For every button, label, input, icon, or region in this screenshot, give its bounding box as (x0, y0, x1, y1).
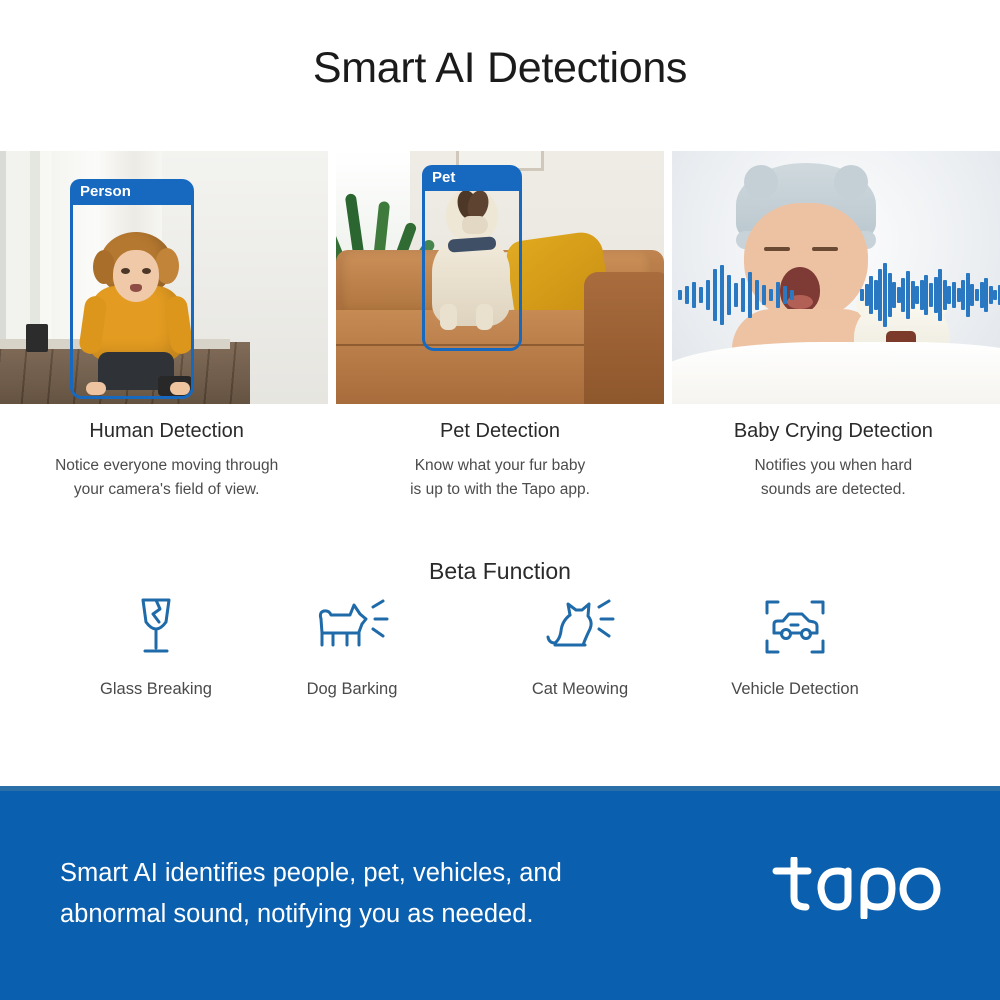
waveform-bar (734, 283, 738, 307)
waveform-bar (892, 282, 896, 308)
waveform-bar (897, 287, 901, 303)
waveform-bar (929, 283, 933, 307)
caption-title: Human Detection (0, 420, 333, 443)
waveform-bar (966, 273, 970, 317)
waveform-bar (748, 272, 752, 318)
waveform-bar (993, 290, 997, 300)
blanket (672, 342, 1000, 404)
waveform-bar (984, 278, 988, 312)
waveform-bar (720, 265, 724, 325)
hat-ear (834, 165, 868, 199)
waveform-bar (888, 273, 892, 317)
beta-item-dog-barking[interactable]: Dog Barking (252, 596, 452, 699)
detection-box-person: Person (70, 179, 194, 399)
hallway-object (26, 324, 48, 352)
footer-banner: Smart AI identifies people, pet, vehicle… (0, 786, 1000, 1000)
broken-glass-icon (56, 596, 256, 658)
beta-item-label: Glass Breaking (56, 680, 256, 699)
beta-function-heading: Beta Function (0, 558, 1000, 585)
waveform-bar (938, 269, 942, 321)
vehicle-detection-icon (695, 596, 895, 658)
caption-line-2: sounds are detected. (761, 481, 906, 498)
caption-title: Pet Detection (333, 420, 666, 443)
feature-image-pet-detection: Pet (336, 151, 664, 404)
beta-item-vehicle-detection[interactable]: Vehicle Detection (695, 596, 895, 699)
caption-description: Notifies you when hard sounds are detect… (667, 454, 1000, 501)
waveform-bar (769, 289, 773, 301)
couch-arm (584, 272, 664, 404)
tapo-logo (770, 857, 942, 919)
waveform-bar (961, 280, 965, 310)
caption-description: Know what your fur baby is up to with th… (333, 454, 666, 501)
caption-line-1: Notifies you when hard (754, 457, 912, 474)
waveform-bar (865, 284, 869, 306)
waveform-bar (989, 286, 993, 304)
banner-line-2: abnormal sound, notifying you as needed. (60, 900, 534, 928)
waveform-bar (906, 271, 910, 319)
waveform-bar (706, 280, 710, 310)
caption-human-detection: Human Detection Notice everyone moving t… (0, 420, 333, 501)
waveform-bar (957, 288, 961, 302)
feature-image-human-detection: Person (0, 151, 328, 404)
caption-description: Notice everyone moving through your came… (0, 454, 333, 501)
detection-box-pet: Pet (422, 165, 522, 351)
waveform-bar (727, 275, 731, 315)
detection-label-person: Person (70, 179, 194, 205)
waveform-bar (878, 269, 882, 321)
waveform-bar (947, 286, 951, 304)
waveform-bar (678, 290, 682, 300)
waveform-bar (924, 275, 928, 315)
marketing-page: Smart AI Detections (0, 0, 1000, 1000)
beta-item-cat-meowing[interactable]: Cat Meowing (480, 596, 680, 699)
waveform-bar (692, 282, 696, 308)
hat-ear (744, 165, 778, 199)
page-title: Smart AI Detections (0, 44, 1000, 93)
waveform-bar (934, 277, 938, 313)
waveform-bar (755, 280, 759, 310)
caption-line-2: your camera's field of view. (74, 481, 260, 498)
cat-meowing-icon (480, 596, 680, 658)
caption-line-2: is up to with the Tapo app. (410, 481, 590, 498)
feature-image-baby-crying-detection (672, 151, 1000, 404)
beta-item-label: Vehicle Detection (695, 680, 895, 699)
waveform-bar (874, 280, 878, 310)
waveform-bar (975, 289, 979, 301)
detection-label-pet: Pet (422, 165, 522, 191)
waveform-bar (685, 286, 689, 304)
baby-eye-left (764, 247, 790, 251)
waveform-bar (952, 282, 956, 308)
waveform-bar (970, 284, 974, 306)
waveform-bar (943, 280, 947, 310)
waveform-bar (699, 287, 703, 303)
waveform-bar (869, 276, 873, 314)
beta-function-items: Glass Breaking Dog Barking (0, 596, 1000, 706)
waveform-bar (713, 269, 717, 321)
waveform-bar (741, 278, 745, 312)
waveform-bar (776, 282, 780, 308)
waveform-bar (920, 280, 924, 310)
waveform-bar (783, 286, 787, 304)
waveform-bar (901, 278, 905, 312)
dog-barking-icon (252, 596, 452, 658)
caption-line-1: Know what your fur baby (415, 457, 586, 474)
feature-panels: Person (0, 151, 1000, 404)
beta-item-label: Dog Barking (252, 680, 452, 699)
waveform-bar (911, 281, 915, 309)
waveform-bar (790, 290, 794, 300)
feature-captions: Human Detection Notice everyone moving t… (0, 420, 1000, 501)
caption-pet-detection: Pet Detection Know what your fur baby is… (333, 420, 666, 501)
audio-waveform-overlay (672, 255, 1000, 335)
beta-item-label: Cat Meowing (480, 680, 680, 699)
banner-message: Smart AI identifies people, pet, vehicle… (60, 853, 700, 936)
banner-line-1: Smart AI identifies people, pet, vehicle… (60, 859, 562, 887)
waveform-bar (762, 285, 766, 305)
waveform-bar (883, 263, 887, 327)
caption-line-1: Notice everyone moving through (55, 457, 278, 474)
waveform-bar (915, 286, 919, 304)
waveform-bar (860, 289, 864, 301)
caption-title: Baby Crying Detection (667, 420, 1000, 443)
waveform-bar (980, 282, 984, 308)
baby-eye-right (812, 247, 838, 251)
caption-baby-crying-detection: Baby Crying Detection Notifies you when … (667, 420, 1000, 501)
beta-item-glass-breaking[interactable]: Glass Breaking (56, 596, 256, 699)
